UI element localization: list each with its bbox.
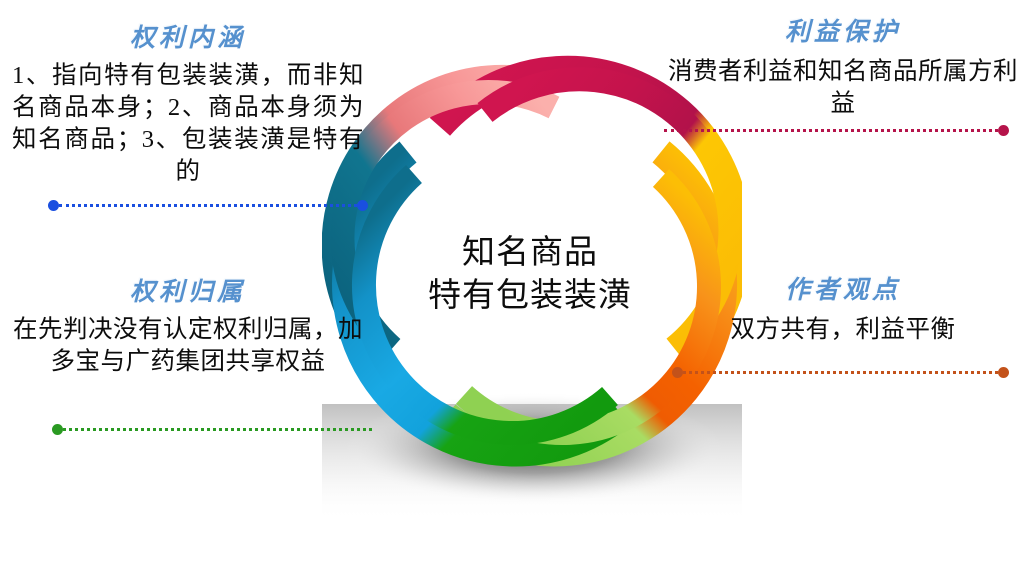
connector-dot-right bbox=[998, 367, 1009, 378]
callout-author-view-heading: 作者观点 bbox=[664, 270, 1022, 306]
center-label-line2: 特有包装装潢 bbox=[380, 275, 680, 318]
callout-interest-protection-heading: 利益保护 bbox=[664, 12, 1022, 48]
connector-dot-right bbox=[357, 200, 368, 211]
connector-dot-left bbox=[672, 367, 683, 378]
callout-rights-content-body: 1、指向特有包装装潢，而非知名商品本身；2、商品本身须为知名商品；3、包装装潢是… bbox=[12, 60, 364, 187]
callout-rights-ownership-body: 在先判决没有认定权利归属，加多宝与广药集团共享权益 bbox=[12, 314, 364, 378]
connector-dot-left bbox=[52, 424, 63, 435]
callout-rights-content[interactable]: 权利内涵 1、指向特有包装装潢，而非知名商品本身；2、商品本身须为知名商品；3、… bbox=[12, 18, 364, 187]
connector-line bbox=[63, 428, 372, 431]
callout-rights-content-heading: 权利内涵 bbox=[12, 18, 364, 54]
connector-rights-ownership bbox=[52, 423, 372, 435]
callout-rights-ownership-heading: 权利归属 bbox=[12, 272, 364, 308]
connector-line bbox=[683, 371, 998, 374]
center-label: 知名商品 特有包装装潢 bbox=[380, 232, 680, 318]
connector-dot-left bbox=[48, 200, 59, 211]
connector-line bbox=[664, 129, 998, 132]
callout-interest-protection[interactable]: 利益保护 消费者利益和知名商品所属方利益 bbox=[664, 12, 1022, 120]
connector-rights-content bbox=[48, 199, 368, 211]
slide-canvas: 知名商品 特有包装装潢 权利内涵 1、指向特有包装装潢，而非知名商品本身；2、商… bbox=[0, 0, 1032, 564]
callout-author-view-body: 双方共有，利益平衡 bbox=[664, 314, 1022, 346]
connector-interest-protection bbox=[664, 124, 1009, 136]
connector-line bbox=[59, 204, 357, 207]
callout-author-view[interactable]: 作者观点 双方共有，利益平衡 bbox=[664, 270, 1022, 346]
callout-interest-protection-body: 消费者利益和知名商品所属方利益 bbox=[664, 56, 1022, 120]
connector-dot-right bbox=[998, 125, 1009, 136]
center-label-line1: 知名商品 bbox=[380, 232, 680, 275]
callout-rights-ownership[interactable]: 权利归属 在先判决没有认定权利归属，加多宝与广药集团共享权益 bbox=[12, 272, 364, 378]
connector-author-view bbox=[672, 366, 1009, 378]
